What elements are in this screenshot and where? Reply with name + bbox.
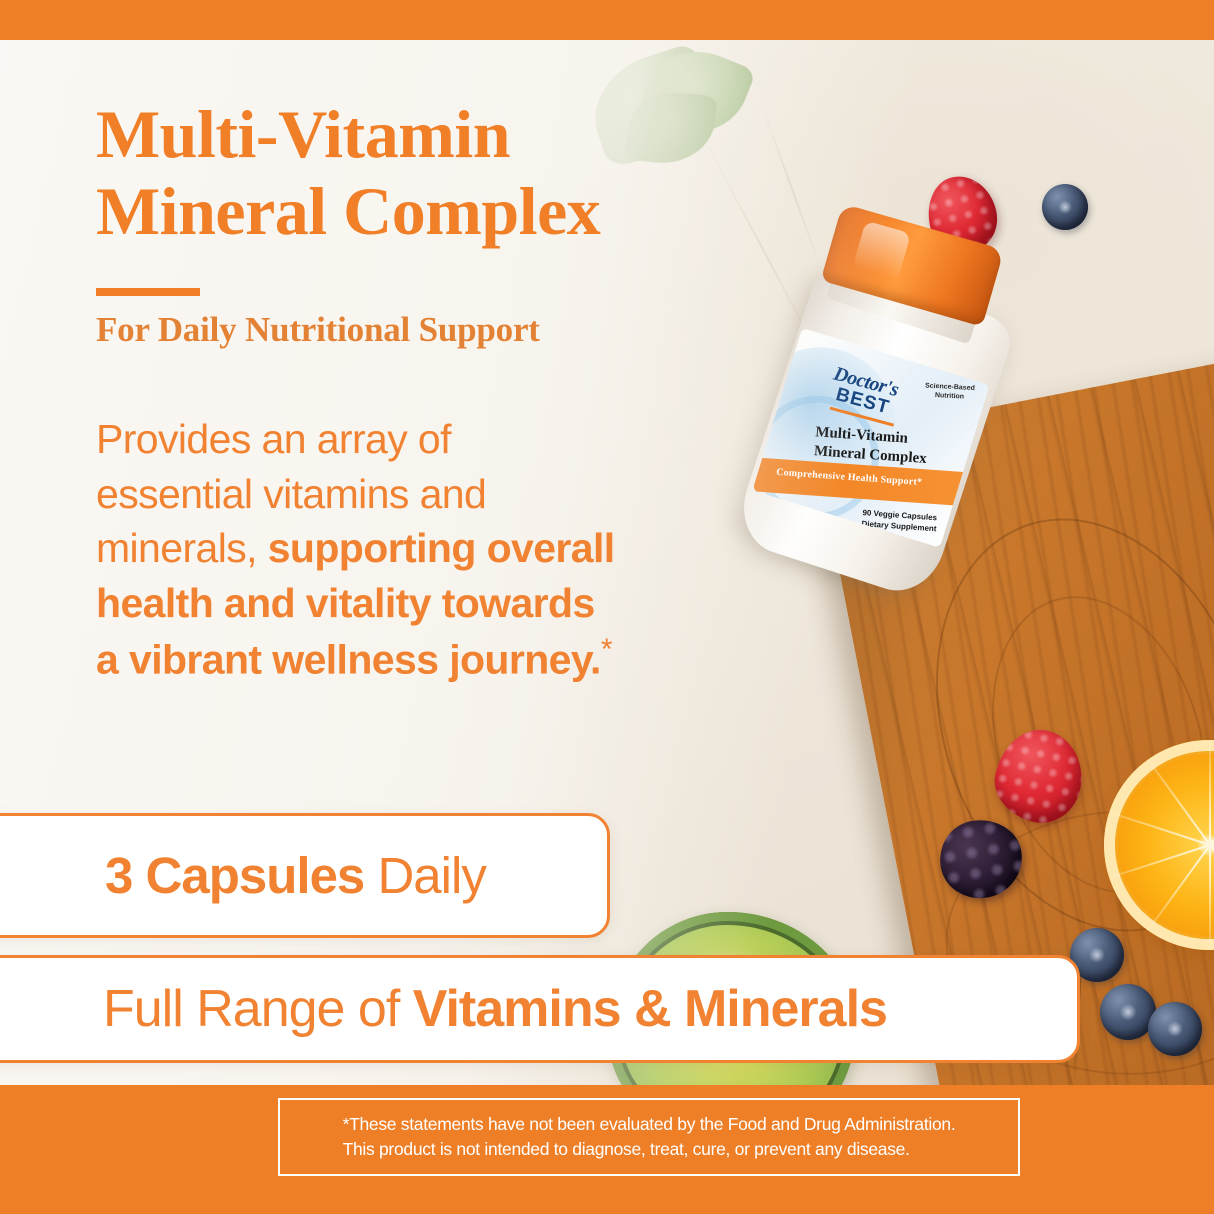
callout-dosage: 3 Capsules Daily [0, 813, 610, 938]
footnote-asterisk: * [601, 633, 612, 666]
headline-line-1: Multi-Vitamin [96, 96, 510, 172]
callout-2-bold: Vitamins & Minerals [413, 980, 887, 1038]
disclaimer-line-2: This product is not intended to diagnose… [343, 1139, 910, 1159]
callout-dosage-text: 3 Capsules Daily [105, 846, 486, 905]
top-orange-band [0, 0, 1214, 40]
callout-2-regular: Full Range of [103, 980, 413, 1038]
headline-line-2: Mineral Complex [96, 173, 600, 249]
headline-divider-rule [96, 288, 200, 296]
callout-range-text: Full Range of Vitamins & Minerals [103, 979, 887, 1039]
label-claim-text: Comprehensive Health Support* [776, 467, 923, 488]
callout-1-regular: Daily [364, 847, 486, 904]
callout-1-bold: 3 Capsules [105, 847, 364, 904]
blueberry [1148, 1002, 1202, 1056]
brand-tagline: Science-Based Nutrition [913, 382, 986, 403]
subheadline: For Daily Nutritional Support [96, 310, 540, 350]
disclaimer-line-1: *These statements have not been evaluate… [343, 1114, 956, 1134]
orange-core [1198, 834, 1214, 856]
blueberry [1042, 184, 1088, 230]
cap-highlight [852, 220, 911, 281]
body-description: Provides an array of essential vitamins … [96, 412, 616, 687]
fda-disclaimer-box: *These statements have not been evaluate… [278, 1098, 1020, 1176]
page-title: Multi-Vitamin Mineral Complex [96, 96, 796, 250]
callout-range: Full Range of Vitamins & Minerals [0, 955, 1080, 1063]
product-marketing-image: Doctor's BEST Science-Based Nutrition Mu… [0, 0, 1214, 1214]
fda-disclaimer-text: *These statements have not been evaluate… [329, 1112, 970, 1163]
